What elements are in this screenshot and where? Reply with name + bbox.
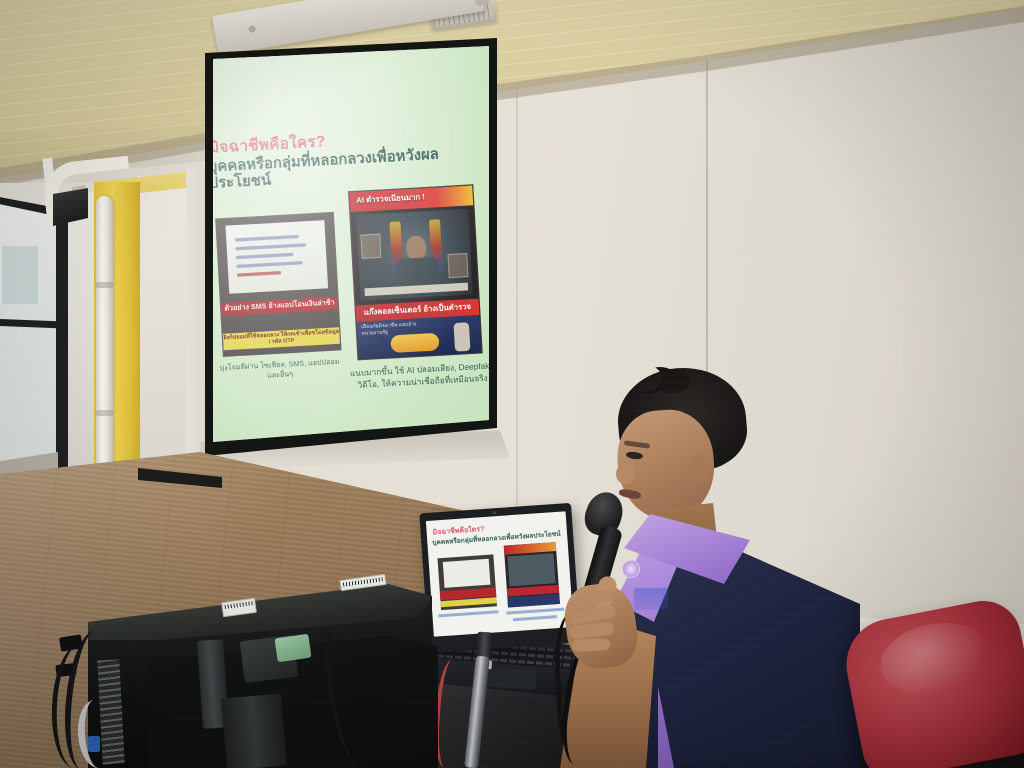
text-line bbox=[235, 235, 299, 242]
slide-content: มิจฉาชีพคือใคร? บุคคลหรือกลุ่มที่หลอกลวง… bbox=[213, 44, 489, 444]
presentation-room-photo: มิจฉาชีพคือใคร? บุคคลหรือกลุ่มที่หลอกลวง… bbox=[0, 0, 1024, 768]
monitor-stand bbox=[221, 694, 287, 768]
projection-screen: มิจฉาชีพคือใคร? บุคคลหรือกลุ่มที่หลอกลวง… bbox=[213, 44, 489, 444]
left-card-highlight: ลิงก์ปลอมที่ใช้หลอกลวง ให้กดเข้าเพื่อขโม… bbox=[223, 327, 340, 349]
slide-caption-left: มุ่งโจมตีผ่าน โซเชียล, SMS, แอปปลอม และอ… bbox=[213, 357, 347, 385]
laptop-right-card bbox=[504, 542, 560, 607]
laptop-left-card bbox=[437, 554, 496, 610]
laptop-caption-right bbox=[506, 608, 564, 615]
shirt-logo bbox=[634, 588, 668, 610]
laptop-news-photo bbox=[508, 553, 556, 586]
laptop-sms-shot bbox=[443, 559, 491, 588]
presenter-finger bbox=[572, 638, 610, 651]
presenter bbox=[560, 366, 860, 768]
slide-left-card: ตัวอย่าง SMS อ้างแอปโอนเงินล่าช้า ลิงก์ป… bbox=[215, 212, 341, 357]
text-line bbox=[236, 261, 302, 268]
news-ticker bbox=[365, 283, 469, 296]
laptop-caption-right-2 bbox=[513, 615, 557, 621]
pipe-band bbox=[95, 410, 114, 416]
news-photo bbox=[356, 209, 473, 301]
presenter-nose bbox=[616, 464, 634, 484]
presenter-ear bbox=[688, 454, 708, 482]
laptop-screen: มิจฉาชีพคือใคร? บุคคลหรือกลุ่มที่หลอกลวง… bbox=[426, 511, 574, 636]
barcode-icon bbox=[343, 577, 383, 587]
sms-screenshot bbox=[225, 220, 328, 294]
right-card-promo: เตือนภัยมิจฉาชีพ แอบอ้างหน่วยงานรัฐ bbox=[356, 315, 481, 359]
glass-door-panel[interactable] bbox=[0, 203, 56, 477]
photo-inset bbox=[447, 253, 468, 278]
text-line bbox=[235, 243, 305, 250]
green-connector bbox=[274, 634, 311, 662]
laptop-caption-left bbox=[438, 610, 498, 617]
laptop-lid: มิจฉาชีพคือใคร? บุคคลหรือกลุ่มที่หลอกลวง… bbox=[419, 503, 580, 653]
promo-badge bbox=[390, 333, 439, 353]
blue-network-connector bbox=[88, 736, 100, 752]
wall-seam-left bbox=[516, 40, 518, 560]
right-card-top-banner: AI ตำรวจเนียนมาก ! bbox=[349, 185, 473, 212]
laptop-promo bbox=[507, 594, 560, 608]
promo-figure bbox=[453, 322, 470, 351]
photo-inset bbox=[360, 234, 381, 259]
slide-right-card: AI ตำรวจเนียนมาก ! แก๊งคอลเซ็นเตอร์ อ้าง… bbox=[348, 184, 483, 360]
right-card-banner-text: AI ตำรวจเนียนมาก ! bbox=[356, 191, 425, 207]
text-line-link bbox=[237, 271, 281, 277]
housing-screw bbox=[248, 25, 256, 33]
white-drain-pipe bbox=[96, 196, 113, 496]
barcode-icon bbox=[225, 601, 253, 609]
door-glass-reflection bbox=[2, 246, 38, 304]
text-line bbox=[236, 253, 293, 259]
slide-caption-right: แนบมากขึ้น ใช้ AI ปลอมเสียง, Deepfake วิ… bbox=[349, 359, 489, 392]
pipe-band bbox=[95, 282, 114, 288]
left-card-headline: ตัวอย่าง SMS อ้างแอปโอนเงินล่าช้า bbox=[221, 297, 338, 317]
shirt-emblem-icon bbox=[622, 560, 640, 578]
presenter-hair-tuft bbox=[622, 364, 662, 392]
webcam-icon bbox=[492, 511, 496, 514]
